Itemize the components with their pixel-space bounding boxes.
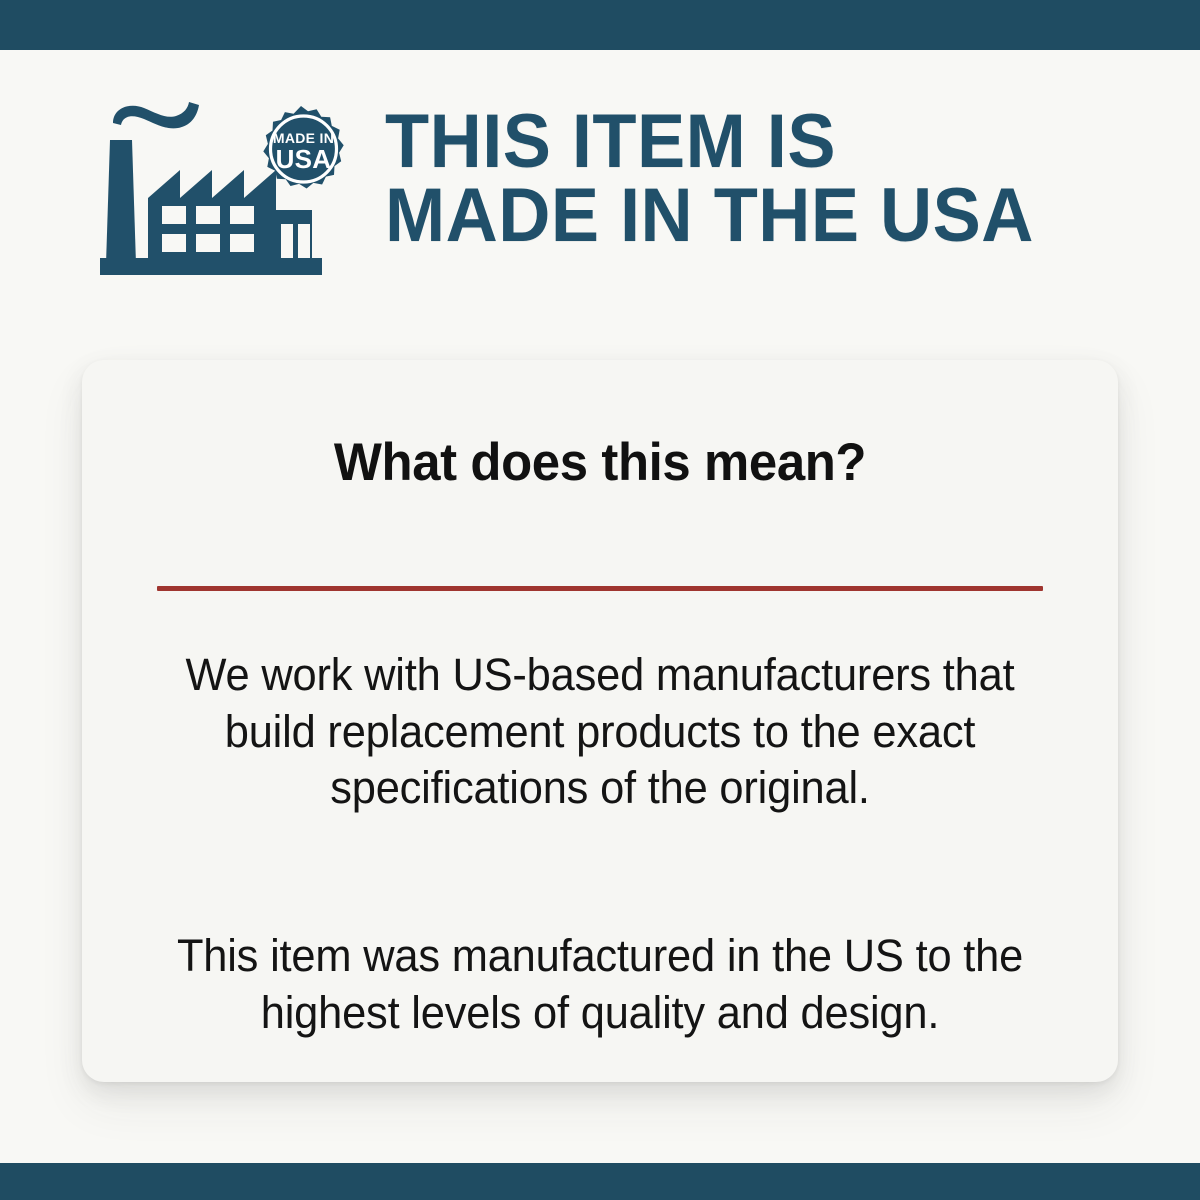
factory-base-icon	[100, 258, 322, 275]
content-canvas: MADE IN USA THIS ITEM IS MADE IN THE USA…	[0, 50, 1200, 1163]
smoke-icon	[113, 102, 199, 128]
card-divider	[157, 586, 1043, 591]
factory-door	[298, 224, 310, 258]
factory-window	[230, 206, 254, 224]
factory-window	[196, 234, 220, 252]
made-in-usa-logo: MADE IN USA	[100, 98, 360, 278]
header: MADE IN USA THIS ITEM IS MADE IN THE USA	[0, 50, 1200, 310]
badge-line-2: USA	[276, 144, 332, 174]
chimney-icon	[106, 140, 136, 264]
factory-door	[281, 224, 293, 258]
page-title-line-1: THIS ITEM IS	[385, 105, 1136, 179]
factory-window	[162, 206, 186, 224]
factory-window	[196, 206, 220, 224]
page-title-line-2: MADE IN THE USA	[385, 179, 1136, 253]
card-paragraph-2: This item was manufactured in the US to …	[154, 928, 1046, 1041]
explanation-card: What does this mean? We work with US-bas…	[82, 360, 1118, 1082]
bottom-accent-band	[0, 1163, 1200, 1200]
factory-with-badge-graphic: MADE IN USA	[100, 98, 360, 278]
page-title: THIS ITEM IS MADE IN THE USA	[385, 105, 1175, 254]
card-heading: What does this mean?	[103, 436, 1098, 489]
page-root: MADE IN USA THIS ITEM IS MADE IN THE USA…	[0, 0, 1200, 1200]
top-accent-band	[0, 0, 1200, 50]
factory-window	[230, 234, 254, 252]
factory-window	[162, 234, 186, 252]
card-paragraph-1: We work with US-based manufacturers that…	[154, 647, 1046, 817]
